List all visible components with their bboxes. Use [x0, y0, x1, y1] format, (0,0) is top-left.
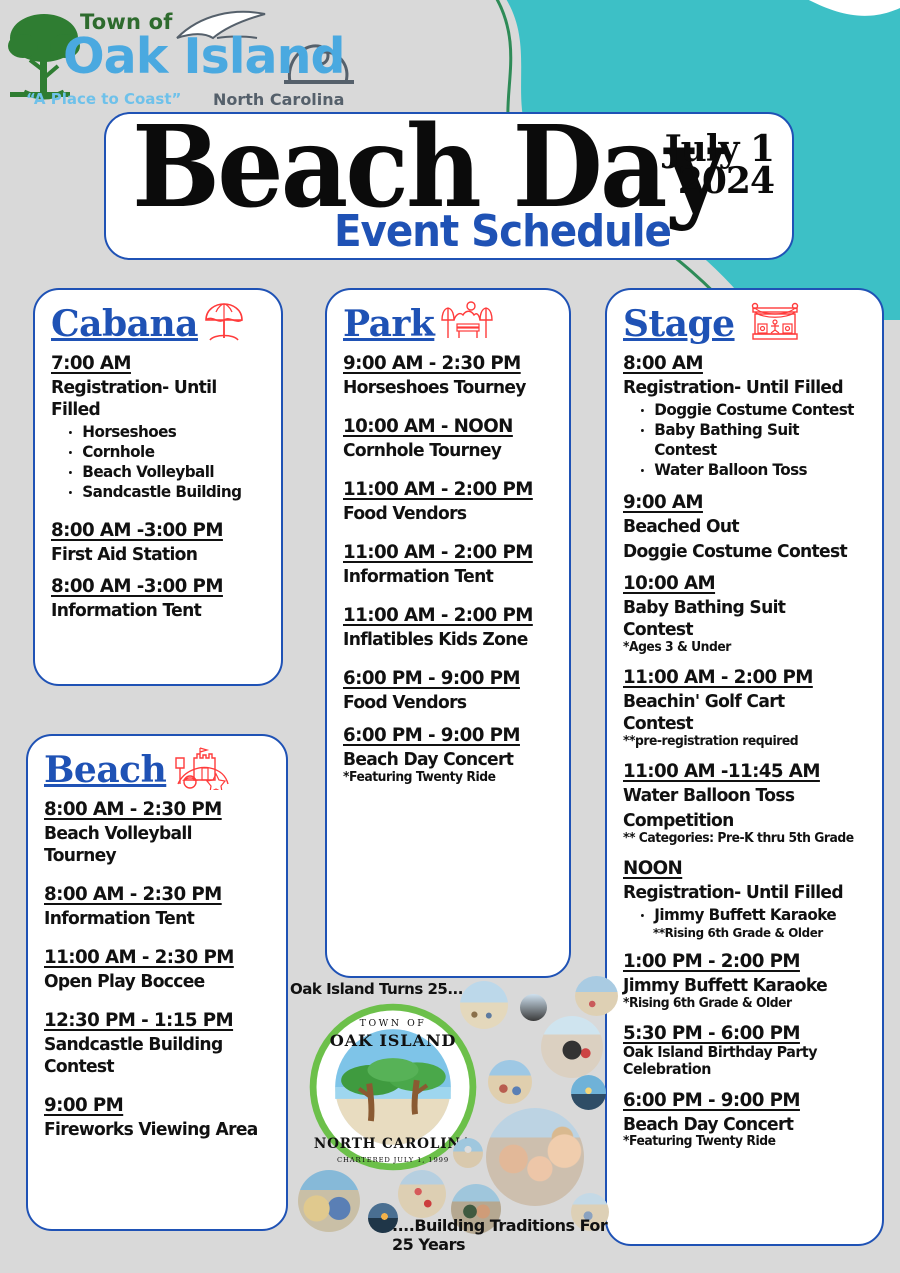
collage-photo — [520, 994, 547, 1021]
event-name: Jimmy Buffett Karaoke — [623, 975, 856, 997]
event-time: 11:00 AM - 2:30 PM — [44, 946, 234, 968]
list-item: Beach Volleyball — [69, 462, 257, 482]
event-time: 9:00 PM — [44, 1094, 123, 1116]
event-item: 12:30 PM - 1:15 PM Sandcastle Building C… — [44, 1009, 272, 1078]
collage-photo — [398, 1170, 446, 1218]
event-item: 11:00 AM -11:45 AM Water Balloon Toss Co… — [623, 760, 868, 847]
event-note: *Rising 6th Grade & Older — [623, 997, 856, 1012]
beach-umbrella-icon — [202, 302, 246, 344]
photo-collage: Oak Island Turns 25..... TOWN OF OAK ISL… — [288, 978, 618, 1268]
svg-text:NORTH CAROLINA: NORTH CAROLINA — [314, 1136, 472, 1152]
event-time: 11:00 AM -11:45 AM — [623, 760, 820, 782]
event-time: 11:00 AM - 2:00 PM — [343, 478, 533, 500]
event-time: NOON — [623, 857, 682, 879]
event-name: Beach Day Concert — [343, 749, 544, 771]
event-year: 2024 — [678, 160, 774, 202]
list-item: Doggie Costume Contest — [641, 400, 857, 420]
event-name: Oak Island Birthday Party — [623, 1044, 856, 1061]
event-name: Baby Bathing Suit Contest — [623, 597, 856, 641]
list-item: Sandcastle Building — [69, 482, 257, 502]
svg-text:TOWN OF: TOWN OF — [360, 1018, 427, 1029]
card-header-park: Park — [343, 300, 555, 344]
event-item: 7:00 AM Registration- Until Filled Horse… — [51, 352, 267, 503]
event-item: 9:00 AM Beached Out Doggie Costume Conte… — [623, 491, 868, 563]
event-name-line2: Celebration — [623, 1061, 856, 1078]
logo-tagline: “A Place to Coast” — [26, 90, 181, 108]
collage-photo — [298, 1170, 360, 1232]
event-item: 6:00 PM - 9:00 PM Beach Day Concert *Fea… — [343, 724, 555, 786]
list-item: Water Balloon Toss — [641, 460, 857, 480]
event-item: 9:00 PM Fireworks Viewing Area — [44, 1094, 272, 1141]
event-bullets: Horseshoes Cornhole Beach Volleyball San… — [69, 422, 267, 503]
event-time: 6:00 PM - 9:00 PM — [343, 667, 520, 689]
event-name: Cornhole Tourney — [343, 440, 544, 462]
event-item: 11:00 AM - 2:00 PM Inflatibles Kids Zone — [343, 604, 555, 651]
event-name: Fireworks Viewing Area — [44, 1119, 261, 1141]
event-name: Registration- Until Filled — [623, 882, 856, 904]
event-name-line2: Doggie Costume Contest — [623, 541, 856, 563]
event-item: 8:00 AM -3:00 PM First Aid Station — [51, 519, 267, 566]
title-banner: Beach Day Event Schedule July 1 2024 — [104, 112, 794, 260]
collage-photo — [486, 1108, 584, 1206]
event-time: 10:00 AM - NOON — [343, 415, 513, 437]
event-item: 9:00 AM - 2:30 PM Horseshoes Tourney — [343, 352, 555, 399]
town-seal-icon: TOWN OF OAK ISLAND NORTH CAROLINA CHARTE… — [308, 1002, 478, 1172]
event-name: Beach Day Concert — [623, 1114, 856, 1136]
event-item: 1:00 PM - 2:00 PM Jimmy Buffett Karaoke … — [623, 950, 868, 1012]
event-name: Horseshoes Tourney — [343, 377, 544, 399]
section-card-cabana: Cabana 7:00 AM Registration- Until Fille… — [33, 288, 283, 686]
event-item: 11:00 AM - 2:30 PM Open Play Boccee — [44, 946, 272, 993]
event-name: Information Tent — [44, 908, 261, 930]
event-name: Water Balloon Toss — [623, 785, 856, 807]
event-item: 6:00 PM - 9:00 PM Beach Day Concert *Fea… — [623, 1089, 868, 1151]
section-title-park: Park — [343, 306, 434, 344]
event-time: 8:00 AM - 2:30 PM — [44, 883, 222, 905]
town-logo: Town of Oak Island “A Place to Coast” No… — [8, 4, 358, 110]
svg-text:CHARTERED JULY 1, 1999: CHARTERED JULY 1, 1999 — [337, 1156, 449, 1164]
event-name: Registration- Until Filled — [51, 377, 256, 421]
event-name: Food Vendors — [343, 503, 544, 525]
event-time: 8:00 AM - 2:30 PM — [44, 798, 222, 820]
event-time: 5:30 PM - 6:00 PM — [623, 1022, 800, 1044]
event-item: 11:00 AM - 2:00 PM Information Tent — [343, 541, 555, 588]
logo-name: Oak Island — [63, 28, 345, 85]
collage-photo — [488, 1060, 532, 1104]
event-time: 7:00 AM — [51, 352, 131, 374]
collage-photo — [541, 1016, 603, 1078]
event-note: *Ages 3 & Under — [623, 641, 856, 656]
event-time: 6:00 PM - 9:00 PM — [623, 1089, 800, 1111]
event-time: 8:00 AM -3:00 PM — [51, 575, 223, 597]
event-name: Information Tent — [343, 566, 544, 588]
collage-caption-top: Oak Island Turns 25..... — [290, 980, 473, 998]
list-item: Horseshoes — [69, 422, 257, 442]
event-note: *Featuring Twenty Ride — [343, 771, 544, 786]
event-name: Sandcastle Building Contest — [44, 1034, 261, 1078]
event-name: Open Play Boccee — [44, 971, 261, 993]
event-time: 8:00 AM — [623, 352, 703, 374]
collage-photo — [571, 1075, 606, 1110]
collage-caption-bottom: ....Building Traditions For 25 Years — [392, 1216, 632, 1254]
event-name: First Aid Station — [51, 544, 256, 566]
event-time: 1:00 PM - 2:00 PM — [623, 950, 800, 972]
event-item: 5:30 PM - 6:00 PM Oak Island Birthday Pa… — [623, 1022, 868, 1079]
event-name: Beach Volleyball Tourney — [44, 823, 261, 867]
event-bullets: Jimmy Buffett Karaoke — [641, 905, 868, 925]
card-header-stage: Stage — [623, 300, 868, 344]
event-time: 10:00 AM — [623, 572, 715, 594]
section-card-beach: Beach 8:00 AM - 2:30 PM Beach Volleyball… — [26, 734, 288, 1231]
page-subtitle: Event Schedule — [334, 210, 671, 254]
event-name: Information Tent — [51, 600, 256, 622]
event-item: 8:00 AM - 2:30 PM Beach Volleyball Tourn… — [44, 798, 272, 867]
event-item: 8:00 AM -3:00 PM Information Tent — [51, 575, 267, 622]
event-item: 10:00 AM - NOON Cornhole Tourney — [343, 415, 555, 462]
event-time: 11:00 AM - 2:00 PM — [343, 541, 533, 563]
event-item: 11:00 AM - 2:00 PM Food Vendors — [343, 478, 555, 525]
event-sub-note: **Rising 6th Grade & Older — [653, 925, 857, 940]
event-item: NOON Registration- Until Filled Jimmy Bu… — [623, 857, 868, 940]
event-name-line2: Competition — [623, 810, 856, 832]
event-item: 10:00 AM Baby Bathing Suit Contest *Ages… — [623, 572, 868, 656]
event-note: ** Categories: Pre-K thru 5th Grade — [623, 832, 856, 847]
card-header-cabana: Cabana — [51, 300, 267, 344]
event-name: Inflatibles Kids Zone — [343, 629, 544, 651]
event-item: 11:00 AM - 2:00 PM Beachin' Golf Cart Co… — [623, 666, 868, 750]
collage-photo — [575, 976, 618, 1016]
collage-photo — [460, 981, 508, 1029]
sandcastle-icon — [170, 746, 232, 790]
event-name: Beachin' Golf Cart Contest — [623, 691, 856, 735]
event-note: **pre-registration required — [623, 735, 856, 750]
list-item: Jimmy Buffett Karaoke — [641, 905, 857, 925]
collage-photo — [453, 1138, 483, 1168]
card-header-beach: Beach — [44, 746, 272, 790]
event-name: Registration- Until Filled — [623, 377, 856, 399]
event-bullets: Doggie Costume Contest Baby Bathing Suit… — [641, 400, 868, 481]
event-time: 8:00 AM -3:00 PM — [51, 519, 223, 541]
event-time: 12:30 PM - 1:15 PM — [44, 1009, 233, 1031]
section-title-beach: Beach — [44, 752, 166, 790]
stage-icon — [749, 300, 801, 344]
logo-state: North Carolina — [213, 90, 344, 109]
section-title-cabana: Cabana — [51, 306, 198, 344]
event-item: 6:00 PM - 9:00 PM Food Vendors — [343, 667, 555, 714]
svg-text:OAK ISLAND: OAK ISLAND — [330, 1031, 457, 1050]
section-title-stage: Stage — [623, 306, 735, 344]
section-card-park: Park 9:00 AM - 2:30 PM Horseshoes Tourne… — [325, 288, 571, 978]
event-item: 8:00 AM Registration- Until Filled Doggi… — [623, 352, 868, 481]
list-item: Cornhole — [69, 442, 257, 462]
event-time: 6:00 PM - 9:00 PM — [343, 724, 520, 746]
event-time: 9:00 AM - 2:30 PM — [343, 352, 521, 374]
event-name: Beached Out — [623, 516, 856, 538]
event-time: 9:00 AM — [623, 491, 703, 513]
park-bench-icon — [438, 300, 494, 344]
list-item: Baby Bathing Suit Contest — [641, 420, 857, 460]
event-name: Food Vendors — [343, 692, 544, 714]
event-time: 11:00 AM - 2:00 PM — [343, 604, 533, 626]
event-time: 11:00 AM - 2:00 PM — [623, 666, 813, 688]
event-item: 8:00 AM - 2:30 PM Information Tent — [44, 883, 272, 930]
event-note: *Featuring Twenty Ride — [623, 1135, 856, 1150]
section-card-stage: Stage 8:00 AM Registration- Until Filled… — [605, 288, 884, 1246]
